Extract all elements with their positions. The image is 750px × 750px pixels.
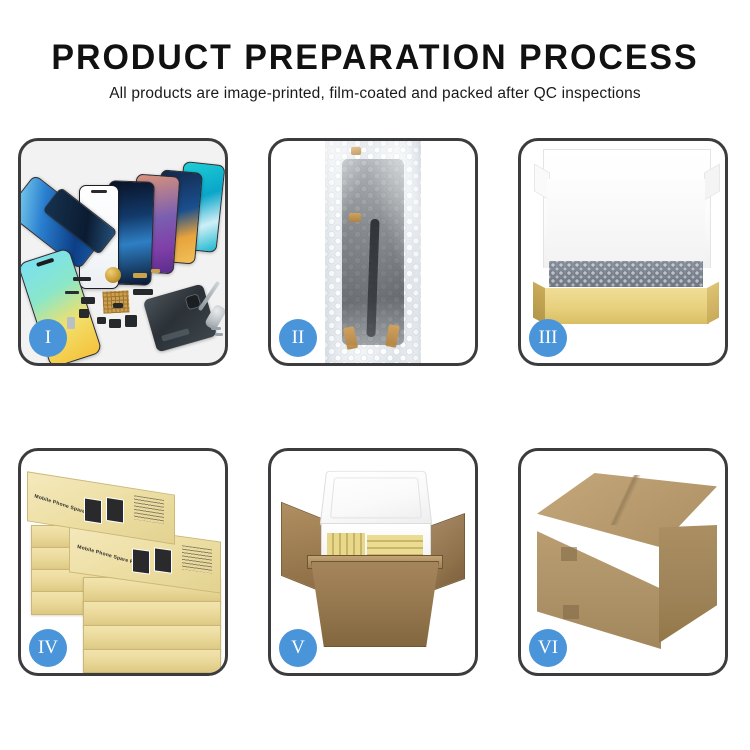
box-inner-liner-icon [547, 179, 705, 261]
process-row-top: I II [0, 138, 750, 378]
carton-handle-tab [563, 605, 579, 619]
process-step-5[interactable]: V [268, 448, 478, 676]
component-bracket-icon [81, 297, 95, 304]
component-battery-icon [67, 317, 75, 329]
box-tray-front-icon [543, 287, 709, 324]
stacked-box-edge [83, 649, 221, 673]
process-step-4[interactable]: Mobile Phone Spare Parts Mobile Phone Sp… [18, 448, 228, 676]
sealed-carton-icon [537, 473, 717, 649]
phone-notch [36, 258, 54, 267]
step-badge-1: I [29, 319, 67, 357]
step-badge-5: V [279, 629, 317, 667]
bubble-wrap-layer-icon [549, 261, 703, 289]
component-screw-icon [215, 333, 223, 336]
tape-piece-icon [351, 147, 361, 155]
process-step-6[interactable]: VI [518, 448, 728, 676]
box-phone-print-icon [84, 497, 102, 524]
box-phone-print-icon [106, 497, 124, 524]
gold-component-icon [105, 267, 121, 283]
component-small-icon [79, 309, 89, 318]
foam-lid-icon [319, 471, 432, 527]
copper-mesh-icon [102, 290, 129, 313]
phone-notch [91, 190, 107, 193]
carton-handle-tab [561, 547, 577, 561]
page-title: PRODUCT PREPARATION PROCESS [11, 38, 739, 78]
component-chip-icon [73, 277, 91, 281]
component-speaker-icon [109, 319, 121, 328]
carton-side-face [659, 525, 717, 643]
step-badge-6: VI [529, 629, 567, 667]
stacked-box-edge [83, 601, 221, 627]
step-badge-2: II [279, 319, 317, 357]
component-connector-icon [151, 269, 160, 273]
component-small-icon [97, 317, 106, 324]
component-flex-icon [133, 289, 153, 295]
tape-piece-icon [349, 213, 361, 222]
process-step-grid: I II [0, 138, 750, 688]
page-header: PRODUCT PREPARATION PROCESS All products… [0, 0, 750, 103]
box-phone-print-icon [154, 547, 172, 574]
bubble-wrap-bag-icon [325, 141, 421, 363]
carton-body-icon [311, 561, 439, 647]
component-chip-icon [113, 303, 123, 308]
box-print-lines [182, 545, 212, 573]
step-badge-4: IV [29, 629, 67, 667]
component-ribbon-icon [65, 291, 79, 294]
page-subtitle: All products are image-printed, film-coa… [0, 85, 750, 103]
box-print-lines [134, 495, 164, 524]
process-row-bottom: Mobile Phone Spare Parts Mobile Phone Sp… [0, 448, 750, 688]
step-badge-3: III [529, 319, 567, 357]
component-camera-icon [125, 315, 137, 327]
box-phone-print-icon [132, 548, 150, 575]
process-step-1[interactable]: I [18, 138, 228, 366]
process-step-2[interactable]: II [268, 138, 478, 366]
process-step-3[interactable]: III [518, 138, 728, 366]
stacked-box-edge [83, 625, 221, 651]
component-connector-icon [133, 273, 147, 278]
